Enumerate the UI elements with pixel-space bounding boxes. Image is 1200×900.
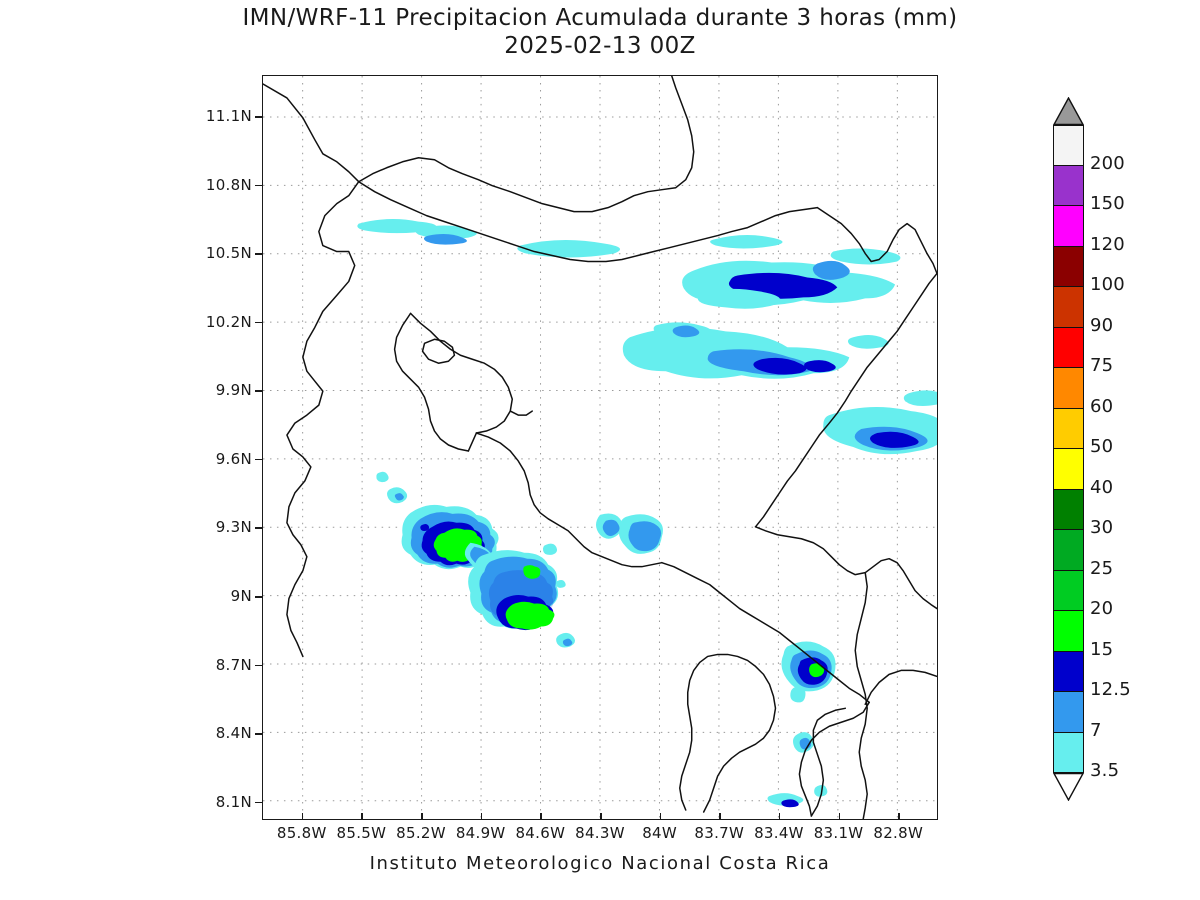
y-axis-tick-mark [255,253,262,255]
colorbar-tick-label: 90 [1090,315,1113,336]
x-axis-tick-mark [540,813,542,820]
y-axis-tick-label: 9N [182,587,252,605]
chart-title-line1: IMN/WRF-11 Precipitacion Acumulada duran… [0,5,1200,31]
map-canvas [263,76,937,819]
colorbar-tick-label: 50 [1090,436,1113,457]
y-axis-tick-label: 8.4N [182,724,252,742]
y-axis-tick-label: 10.8N [182,176,252,194]
map-plot-area [262,75,938,820]
y-axis-tick-mark [255,802,262,804]
colorbar-band [1053,652,1084,693]
precip-cell-small-3 [543,544,557,555]
colorbar-band [1053,490,1084,531]
colorbar-over-arrow [1053,97,1084,125]
x-axis-tick-label: 82.8W [863,824,933,842]
y-axis-tick-label: 11.1N [182,107,252,125]
colorbar-band [1053,166,1084,207]
colorbar: 20015012010090756050403025201512.573.5 [1053,97,1084,797]
x-axis-tick-mark [600,813,602,820]
chart-title-line2: 2025-02-13 00Z [0,33,1200,59]
precip-cell-caribbean-east [823,390,937,454]
x-axis-tick-mark [660,813,662,820]
colorbar-tick-label: 20 [1090,598,1113,619]
x-axis-tick-mark [481,813,483,820]
y-axis-tick-mark [255,527,262,529]
precip-cell-quepos [781,641,835,702]
colorbar-band [1053,287,1084,328]
colorbar-band [1053,125,1084,166]
colorbar-tick-label: 200 [1090,153,1125,174]
colorbar-band [1053,449,1084,490]
y-axis-tick-mark [255,390,262,392]
colorbar-tick-label: 30 [1090,517,1113,538]
colorbar-tick-label: 100 [1090,274,1125,295]
colorbar-tick-label: 60 [1090,396,1113,417]
x-axis-tick-mark [719,813,721,820]
y-axis-tick-mark [255,596,262,598]
precip-cell-central-pacific [596,513,663,553]
colorbar-tick-label: 7 [1090,720,1102,741]
y-axis-tick-label: 9.6N [182,450,252,468]
y-axis-tick-mark [255,733,262,735]
colorbar-tick-label: 12.5 [1090,679,1131,700]
y-axis-tick-label: 10.2N [182,313,252,331]
precip-cell-small-2 [376,472,388,482]
colorbar-band [1053,409,1084,450]
colorbar-band [1053,530,1084,571]
y-axis-tick-label: 9.9N [182,381,252,399]
colorbar-band [1053,328,1084,369]
x-axis-tick-mark [898,813,900,820]
y-axis-tick-label: 10.5N [182,244,252,262]
colorbar-tick-label: 3.5 [1090,760,1119,781]
y-axis-tick-mark [255,665,262,667]
footer-credit: Instituto Meteorologico Nacional Costa R… [0,853,1200,874]
x-axis-tick-mark [302,813,304,820]
x-axis-tick-mark [361,813,363,820]
colorbar-tick-label: 75 [1090,355,1113,376]
colorbar-tick-label: 25 [1090,558,1113,579]
colorbar-band [1053,206,1084,247]
y-axis-tick-label: 9.3N [182,518,252,536]
colorbar-band [1053,692,1084,733]
colorbar-band [1053,247,1084,288]
colorbar-tick-label: 150 [1090,193,1125,214]
y-axis-tick-mark [255,116,262,118]
precip-sliver-north-plain [517,240,620,258]
colorbar-band [1053,368,1084,409]
y-axis-tick-mark [255,322,262,324]
y-axis-tick-label: 8.7N [182,656,252,674]
precip-cell-nicoya-south [468,550,558,630]
x-axis-tick-mark [779,813,781,820]
colorbar-tick-label: 15 [1090,639,1113,660]
grid-lines [263,76,937,819]
y-axis-tick-mark [255,459,262,461]
y-axis-tick-mark [255,185,262,187]
colorbar-band [1053,733,1084,774]
colorbar-tick-label: 120 [1090,234,1125,255]
x-axis-tick-mark [839,813,841,820]
x-axis-tick-mark [421,813,423,820]
precip-cell-caribbean-central [623,322,889,378]
colorbar-under-arrow [1053,773,1084,801]
colorbar-band [1053,571,1084,612]
colorbar-tick-label: 40 [1090,477,1113,498]
colorbar-band [1053,611,1084,652]
y-axis-tick-label: 8.1N [182,793,252,811]
